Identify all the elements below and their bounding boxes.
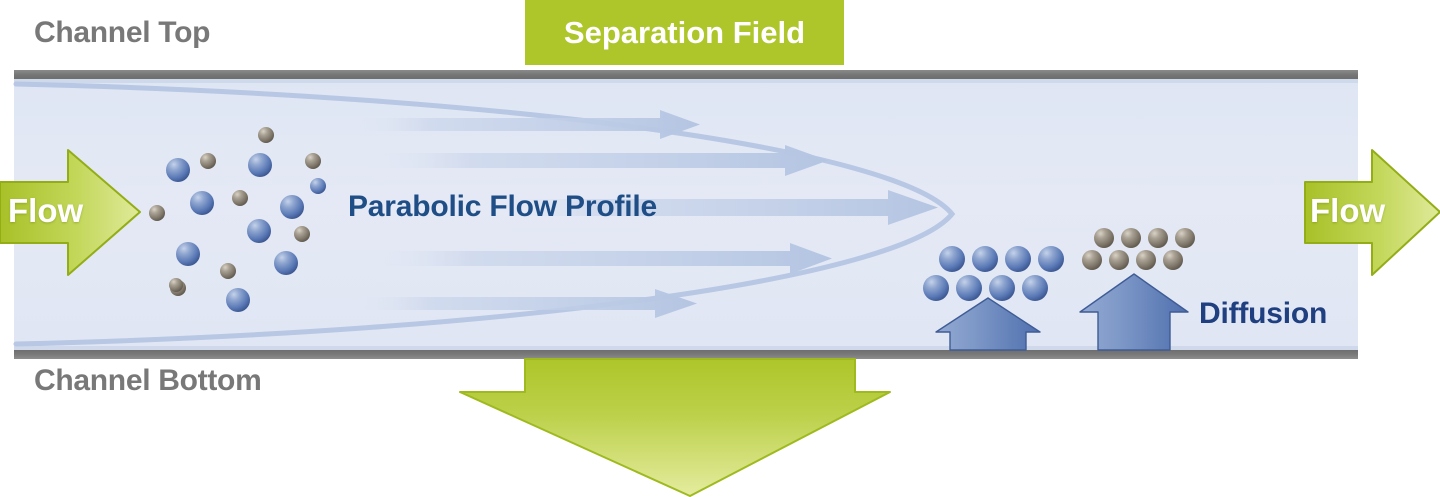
flow-label-left: Flow [8,194,83,227]
particle-brown [305,153,321,169]
particle-blue [1038,246,1064,272]
particle-brown [1163,250,1183,270]
particle-blue [1005,246,1031,272]
particle-brown [169,278,183,292]
particle-brown [1082,250,1102,270]
particle-blue [248,153,272,177]
channel-bottom-wall [14,350,1358,359]
particle-blue [280,195,304,219]
particle-brown [1148,228,1168,248]
particle-brown [1109,250,1129,270]
diagram-canvas: Channel Top Channel Bottom Separation Fi… [0,0,1440,497]
particle-brown [1121,228,1141,248]
channel-bottom-label: Channel Bottom [34,366,261,396]
channel-top-inner-highlight [14,79,1358,83]
channel-graphics-layer [0,0,1440,497]
particle-brown [220,263,236,279]
particle-brown [232,190,248,206]
particle-blue [956,275,982,301]
particle-brown [149,205,165,221]
particle-blue [247,219,271,243]
particle-blue [274,251,298,275]
particle-brown [258,127,274,143]
particle-blue [226,288,250,312]
particle-brown [1175,228,1195,248]
particle-blue [166,158,190,182]
particle-brown [1136,250,1156,270]
particle-blue [190,191,214,215]
particle-blue [923,275,949,301]
diffusion-label: Diffusion [1199,299,1327,329]
particle-blue [310,178,326,194]
separation-field-arrow-down [460,359,890,496]
particle-blue [972,246,998,272]
particle-brown [294,226,310,242]
particle-brown [200,153,216,169]
channel-top-wall [14,70,1358,79]
channel-top-label: Channel Top [34,18,210,48]
separation-field-badge: Separation Field [525,0,844,65]
particle-blue [176,242,200,266]
particle-brown [1094,228,1114,248]
particle-blue [989,275,1015,301]
flow-label-right: Flow [1310,194,1385,227]
particle-blue [1022,275,1048,301]
parabolic-flow-profile-label: Parabolic Flow Profile [348,192,657,222]
particle-blue [939,246,965,272]
